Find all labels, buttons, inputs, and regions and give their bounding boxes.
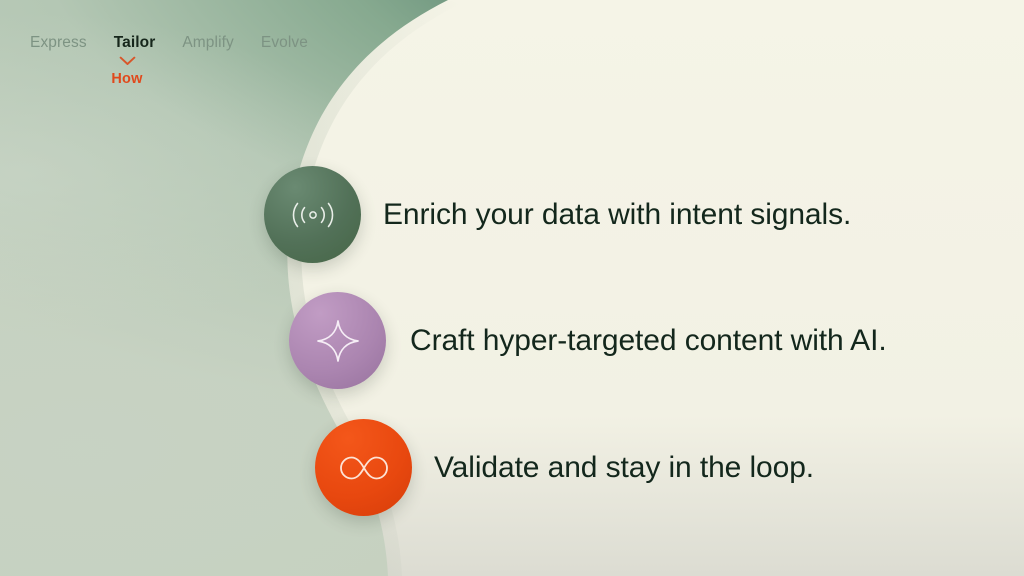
- step-item-2[interactable]: Craft hyper-targeted content with AI.: [289, 292, 887, 389]
- step-1-bubble[interactable]: [264, 166, 361, 263]
- step-3-text: Validate and stay in the loop.: [434, 451, 814, 485]
- nav-item-evolve[interactable]: Evolve: [261, 34, 308, 52]
- step-2-bubble[interactable]: [289, 292, 386, 389]
- chevron-down-icon: [119, 56, 136, 66]
- infinity-icon: [336, 452, 392, 484]
- nav-item-amplify[interactable]: Amplify: [182, 34, 234, 52]
- nav-item-express[interactable]: Express: [30, 34, 87, 52]
- slide-canvas: Express Tailor Amplify Evolve How Enrich…: [0, 0, 1024, 576]
- nav-subsection-how[interactable]: How: [106, 56, 148, 87]
- broadcast-signal-icon: [286, 195, 340, 235]
- step-1-text: Enrich your data with intent signals.: [383, 198, 851, 232]
- step-2-text: Craft hyper-targeted content with AI.: [410, 324, 887, 358]
- top-navigation[interactable]: Express Tailor Amplify Evolve: [30, 34, 308, 52]
- sparkle-star-icon: [315, 318, 361, 364]
- step-3-bubble[interactable]: [315, 419, 412, 516]
- how-label: How: [111, 71, 142, 87]
- step-item-3[interactable]: Validate and stay in the loop.: [315, 419, 814, 516]
- step-item-1[interactable]: Enrich your data with intent signals.: [264, 166, 851, 263]
- nav-item-tailor[interactable]: Tailor: [114, 34, 156, 52]
